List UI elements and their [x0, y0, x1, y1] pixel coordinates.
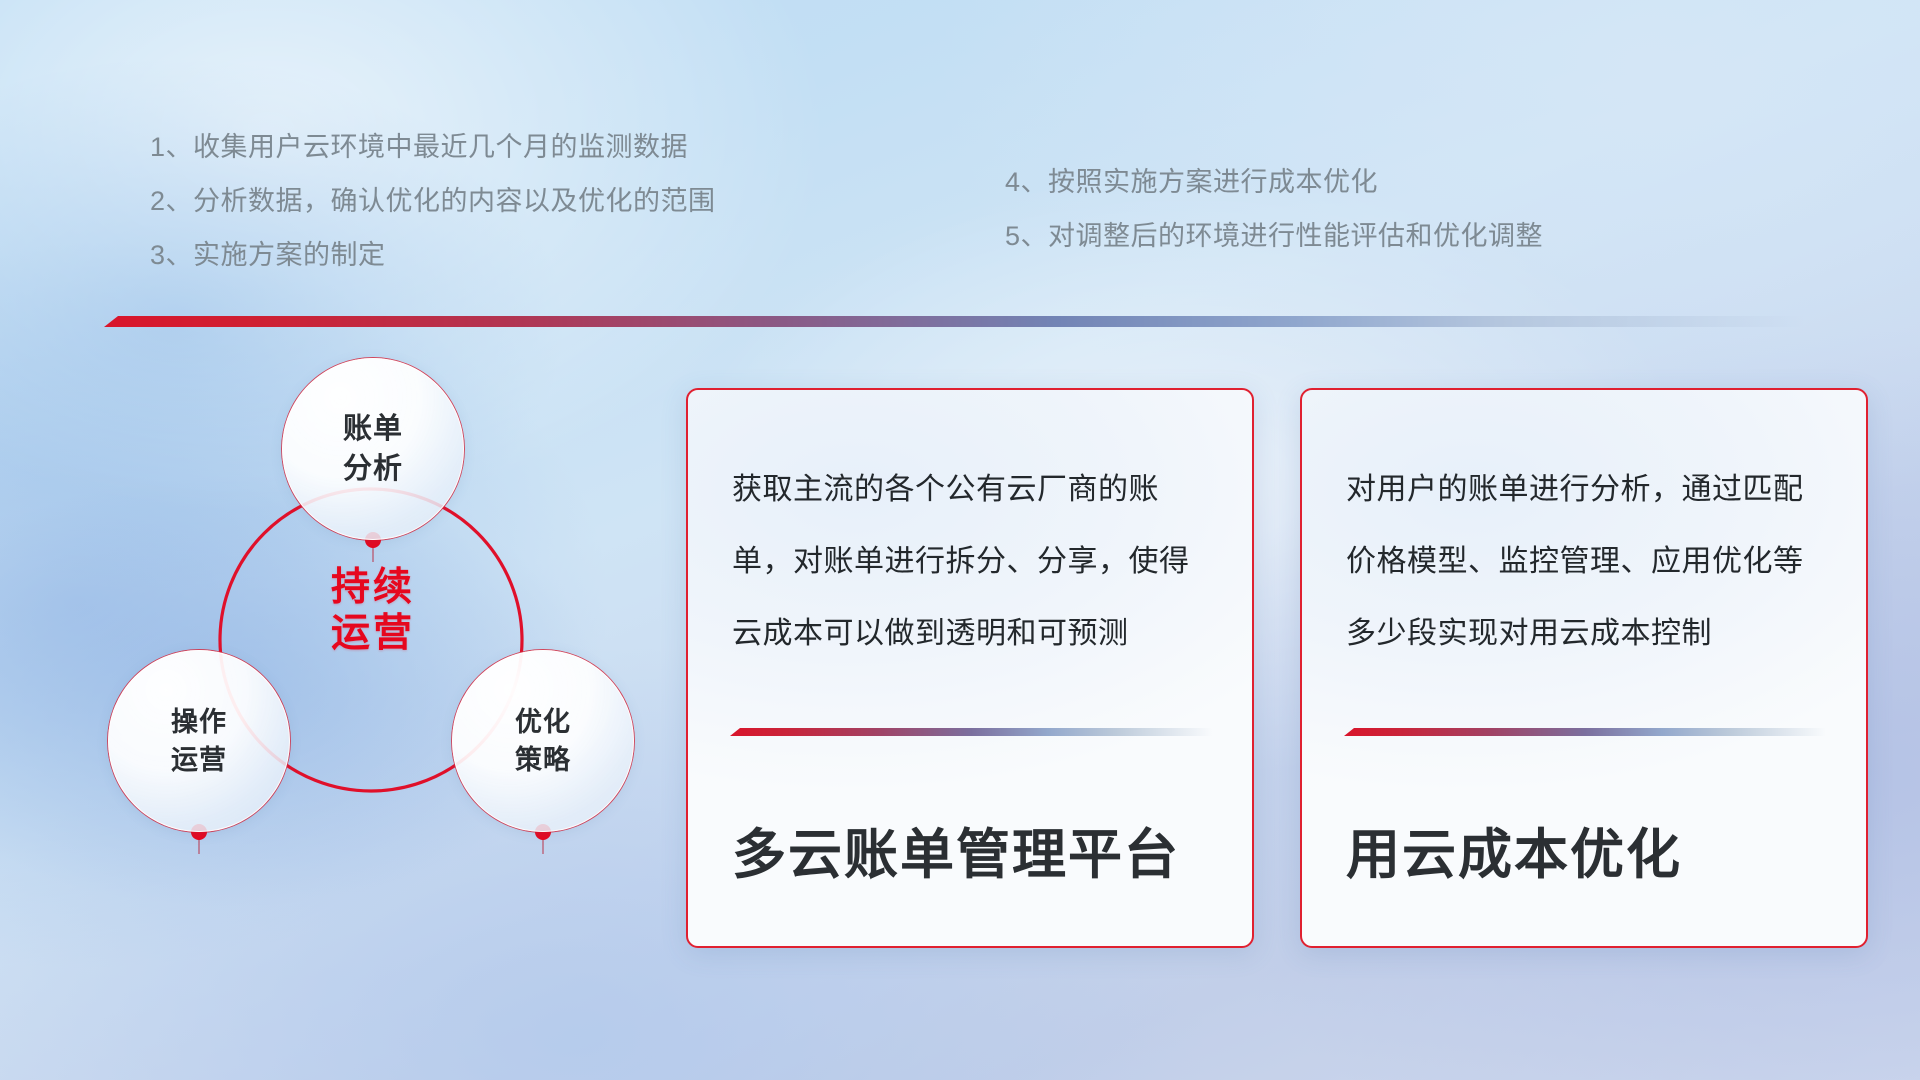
card-body-text: 对用户的账单进行分析，通过匹配价格模型、监控管理、应用优化等多少段实现对用云成本… [1346, 454, 1826, 670]
card-title: 用云成本优化 [1346, 810, 1836, 889]
card-divider [1344, 728, 1826, 736]
bubble-optimize-strategy[interactable]: 优化 策略 [452, 650, 634, 832]
steps-left-column: 1、收集用户云环境中最近几个月的监测数据 2、分析数据，确认优化的内容以及优化的… [150, 120, 716, 282]
step-item-3: 3、实施方案的制定 [150, 228, 716, 282]
bubble-label-line-2: 分析 [343, 449, 403, 489]
bubble-label-line-1: 操作 [171, 703, 227, 741]
card-cloud-cost-optimization[interactable]: 对用户的账单进行分析，通过匹配价格模型、监控管理、应用优化等多少段实现对用云成本… [1300, 388, 1868, 948]
step-item-1: 1、收集用户云环境中最近几个月的监测数据 [150, 120, 716, 174]
card-title: 多云账单管理平台 [732, 810, 1222, 889]
center-label-line-2: 运营 [280, 611, 466, 657]
bubble-operation[interactable]: 操作 运营 [108, 650, 290, 832]
card-divider [730, 728, 1212, 736]
section-divider [104, 316, 1804, 327]
step-item-2: 2、分析数据，确认优化的内容以及优化的范围 [150, 174, 716, 228]
continuous-operation-diagram: 账单 分析 操作 运营 优化 策略 持续 运营 [90, 350, 650, 950]
card-multicloud-billing[interactable]: 获取主流的各个公有云厂商的账单，对账单进行拆分、分享，使得云成本可以做到透明和可… [686, 388, 1254, 948]
step-item-4: 4、按照实施方案进行成本优化 [1005, 155, 1543, 209]
bubble-label-line-2: 策略 [515, 741, 571, 779]
diagram-center-label: 持续 运营 [280, 565, 466, 657]
center-label-line-1: 持续 [280, 565, 466, 611]
bubble-label-line-2: 运营 [171, 741, 227, 779]
bubble-bill-analysis[interactable]: 账单 分析 [282, 358, 464, 540]
bubble-label-line-1: 优化 [515, 703, 571, 741]
step-item-5: 5、对调整后的环境进行性能评估和优化调整 [1005, 209, 1543, 263]
bubble-label-line-1: 账单 [343, 409, 403, 449]
steps-right-column: 4、按照实施方案进行成本优化 5、对调整后的环境进行性能评估和优化调整 [1005, 155, 1543, 263]
card-body-text: 获取主流的各个公有云厂商的账单，对账单进行拆分、分享，使得云成本可以做到透明和可… [732, 454, 1212, 670]
